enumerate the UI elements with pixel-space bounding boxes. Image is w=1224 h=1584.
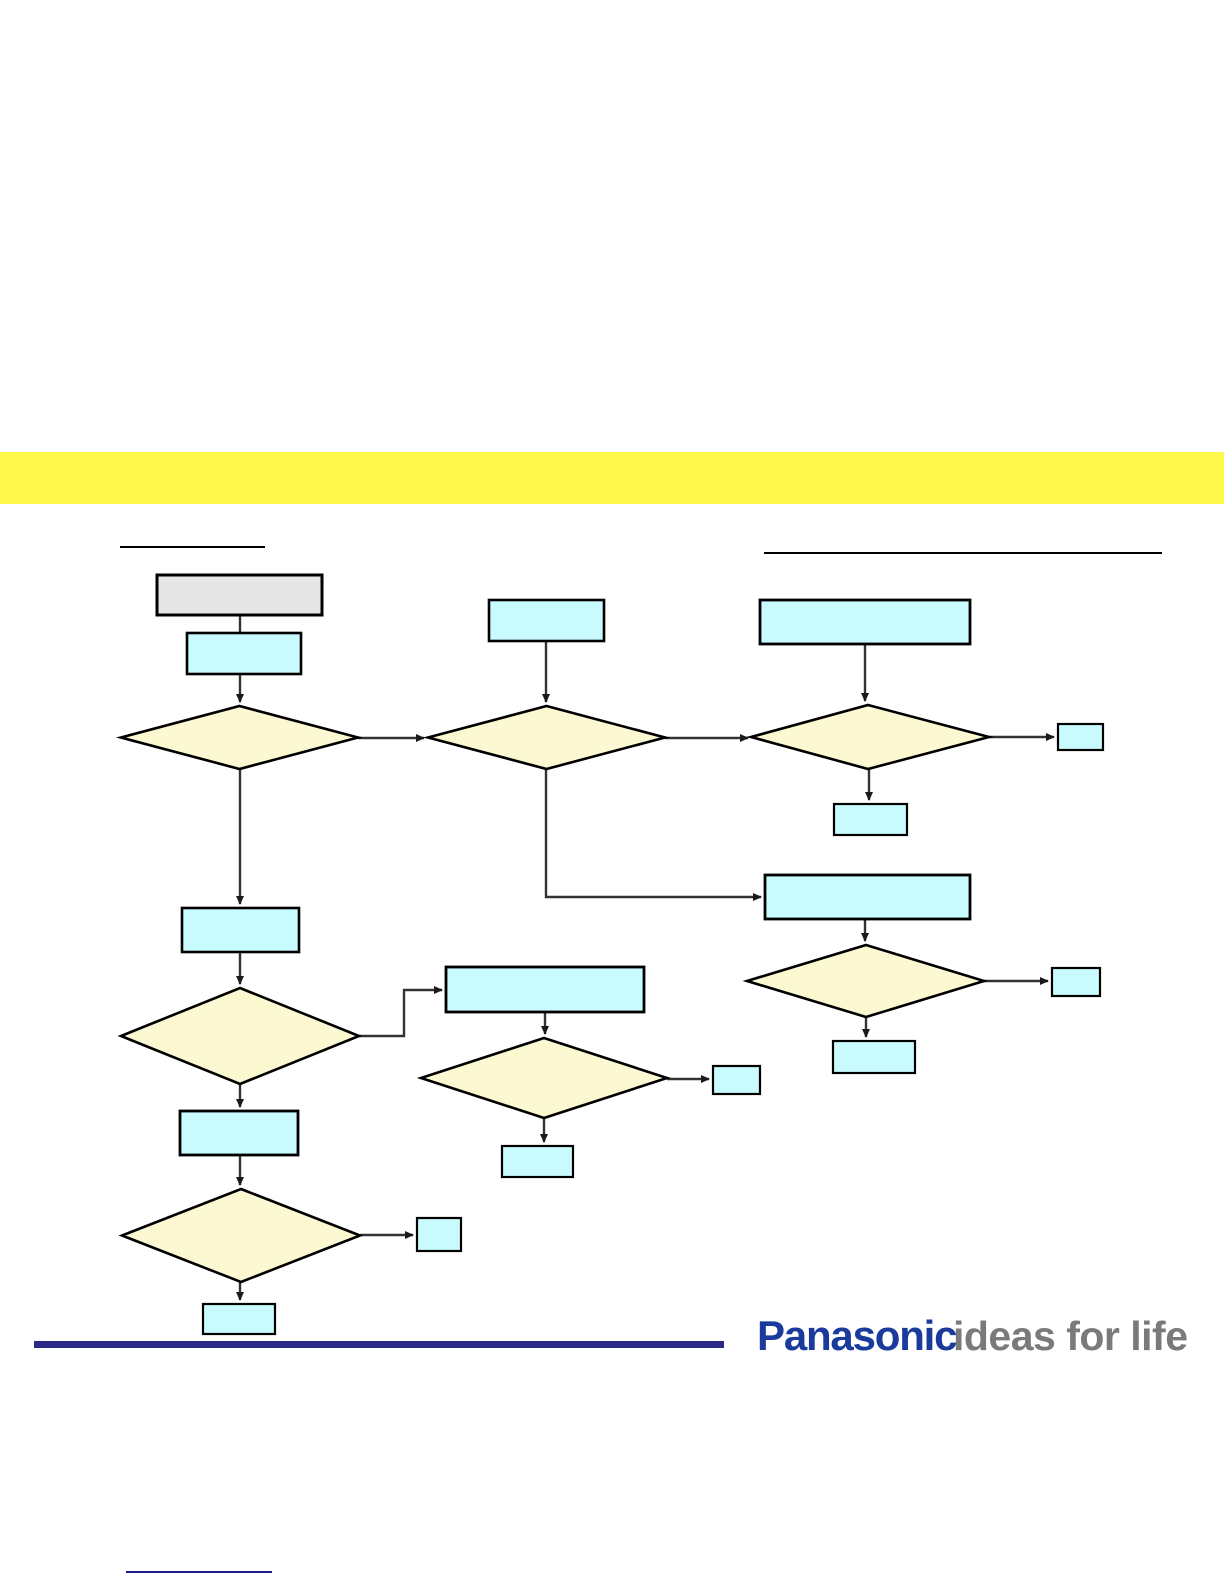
footer-divider-bar xyxy=(34,1341,724,1348)
node-n19[interactable] xyxy=(765,875,970,919)
node-n4[interactable] xyxy=(182,908,299,952)
bottom-rule xyxy=(126,1571,272,1573)
node-n5[interactable] xyxy=(121,988,359,1084)
logo-brand-text: Panasonic xyxy=(757,1312,956,1360)
node-n8[interactable] xyxy=(203,1304,275,1334)
logo-tagline-text: ideas for life xyxy=(953,1312,1188,1360)
flow-nodes xyxy=(121,575,1103,1334)
node-n2[interactable] xyxy=(187,633,301,674)
panasonic-logo: Panasonic ideas for life xyxy=(757,1312,1207,1360)
node-n7-out[interactable] xyxy=(417,1218,461,1251)
title-banner xyxy=(0,452,1224,504)
node-n1[interactable] xyxy=(157,575,322,615)
node-n3[interactable] xyxy=(121,706,358,769)
node-n6[interactable] xyxy=(180,1111,298,1155)
node-n16[interactable] xyxy=(751,705,989,769)
node-n17[interactable] xyxy=(1058,724,1103,750)
flow-connectors xyxy=(240,615,1054,1300)
flowchart xyxy=(0,504,1224,1344)
node-n13[interactable] xyxy=(713,1066,760,1094)
node-n7[interactable] xyxy=(122,1189,360,1282)
node-n11[interactable] xyxy=(446,967,644,1012)
node-n22[interactable] xyxy=(833,1041,915,1073)
node-n21[interactable] xyxy=(1052,968,1100,996)
node-n20[interactable] xyxy=(747,945,984,1017)
slide-canvas: Panasonic ideas for life xyxy=(0,0,1224,1584)
node-n10[interactable] xyxy=(428,706,665,769)
node-n12[interactable] xyxy=(421,1038,667,1118)
node-n15[interactable] xyxy=(760,600,970,644)
node-n14[interactable] xyxy=(502,1146,573,1177)
edge-n10-n19 xyxy=(546,769,761,897)
node-n18[interactable] xyxy=(834,804,907,835)
edge-n5-n11 xyxy=(359,990,442,1036)
node-n9[interactable] xyxy=(489,600,604,641)
